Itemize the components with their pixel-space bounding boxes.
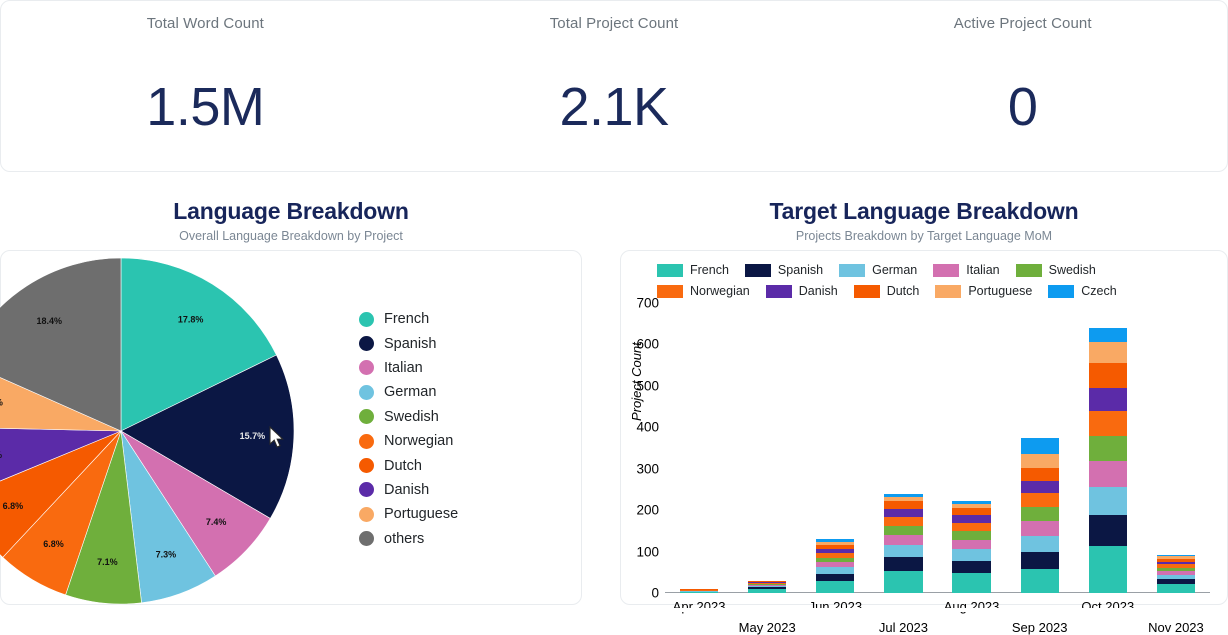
bar-segment[interactable] [884, 535, 922, 545]
bar-segment[interactable] [884, 517, 922, 526]
bar-segment[interactable] [884, 557, 922, 571]
x-axis-tick-label: Jul 2023 [879, 620, 928, 635]
bar-legend: FrenchSpanishGermanItalianSwedishNorwegi… [657, 263, 1202, 298]
legend-color-dot-icon [359, 312, 374, 327]
legend-color-dot-icon [359, 434, 374, 449]
legend-color-swatch-icon [745, 264, 771, 277]
bar-segment[interactable] [1021, 438, 1059, 454]
pie-legend-label: Norwegian [384, 433, 453, 449]
pie-legend-label: Portuguese [384, 506, 458, 522]
legend-color-swatch-icon [854, 285, 880, 298]
legend-color-swatch-icon [1048, 285, 1074, 298]
bar-segment[interactable] [1089, 436, 1127, 461]
bar-segment[interactable] [1089, 328, 1127, 342]
bar-legend-label: Spanish [778, 263, 823, 277]
legend-color-dot-icon [359, 458, 374, 473]
kpi-label: Active Project Count [954, 15, 1092, 32]
pie-slice-label: 6.8% [43, 539, 64, 549]
pie-legend-item[interactable]: Portuguese [359, 502, 458, 526]
y-axis-tick-label: 100 [636, 544, 659, 559]
bar-panel-subtitle: Projects Breakdown by Target Language Mo… [620, 229, 1228, 243]
bar-legend-label: German [872, 263, 917, 277]
legend-color-dot-icon [359, 360, 374, 375]
bar-segment[interactable] [1021, 569, 1059, 593]
legend-color-dot-icon [359, 409, 374, 424]
legend-color-swatch-icon [766, 285, 792, 298]
bar-plot-area[interactable]: Project Count 0100200300400500600700 Apr… [665, 303, 1210, 593]
kpi-label: Total Word Count [147, 15, 264, 32]
kpi-card: Total Word Count 1.5M Total Project Coun… [0, 0, 1228, 172]
bar-legend-item[interactable]: Norwegian [657, 284, 750, 298]
x-axis-tick-label: Sep 2023 [1012, 620, 1068, 635]
bar-segment[interactable] [952, 523, 990, 531]
bar-segment[interactable] [1157, 584, 1195, 593]
bar-stack[interactable] [748, 581, 786, 593]
pie-legend-label: Spanish [384, 336, 436, 352]
y-axis-tick-label: 400 [636, 420, 659, 435]
legend-color-dot-icon [359, 531, 374, 546]
pie-slice-label: 7.1% [97, 557, 118, 567]
bar-segment[interactable] [952, 549, 990, 561]
bar-segment[interactable] [748, 589, 786, 593]
y-axis-tick-label: 700 [636, 296, 659, 311]
bar-legend-item[interactable]: Portuguese [935, 284, 1032, 298]
bar-segment[interactable] [1021, 468, 1059, 480]
pie-legend-item[interactable]: others [359, 527, 458, 551]
pie-legend-label: Italian [384, 360, 423, 376]
pie-slice-label: 6.8% [3, 501, 24, 511]
pie-slice-label: 6.3% [0, 397, 3, 407]
bar-segment[interactable] [952, 561, 990, 573]
bar-legend-item[interactable]: Swedish [1016, 263, 1096, 277]
bar-segment[interactable] [816, 581, 854, 593]
kpi-label: Total Project Count [550, 15, 679, 32]
pie-legend-label: Danish [384, 482, 429, 498]
pie-chart-svg[interactable]: 17.8%15.7%7.4%7.3%7.1%6.8%6.8%6.6%6.3%18… [0, 256, 296, 606]
pie-slice-label: 7.4% [206, 517, 227, 527]
bar-legend-item[interactable]: Dutch [854, 284, 920, 298]
pie-legend-item[interactable]: French [359, 307, 458, 331]
pie-panel-title: Language Breakdown [0, 198, 582, 225]
bar-stack[interactable] [1157, 555, 1195, 593]
kpi-value: 2.1K [559, 80, 668, 134]
pie-legend-item[interactable]: German [359, 380, 458, 404]
bar-legend-item[interactable]: French [657, 263, 729, 277]
legend-color-dot-icon [359, 507, 374, 522]
x-axis-tick-label: Nov 2023 [1148, 620, 1204, 635]
bar-segment[interactable] [1021, 493, 1059, 507]
pie-chart[interactable]: 17.8%15.7%7.4%7.3%7.1%6.8%6.8%6.6%6.3%18… [0, 256, 296, 606]
bar-segment[interactable] [1089, 546, 1127, 593]
bar-stack[interactable] [884, 494, 922, 593]
pie-panel-subtitle: Overall Language Breakdown by Project [0, 229, 582, 243]
bar-segment[interactable] [1021, 552, 1059, 569]
pie-legend-label: German [384, 384, 436, 400]
legend-color-swatch-icon [935, 285, 961, 298]
bar-segment[interactable] [884, 526, 922, 535]
bar-legend-label: Swedish [1049, 263, 1096, 277]
pie-slice-label: 6.6% [0, 450, 2, 460]
pie-legend-label: Dutch [384, 458, 422, 474]
bar-segment[interactable] [1021, 507, 1059, 521]
pie-legend-item[interactable]: Norwegian [359, 429, 458, 453]
x-axis-tick-label: May 2023 [739, 620, 796, 635]
legend-color-swatch-icon [839, 264, 865, 277]
bar-stack[interactable] [816, 539, 854, 593]
bottom-strip [0, 608, 1228, 612]
bar-segment[interactable] [680, 592, 718, 593]
bar-legend-label: Danish [799, 284, 838, 298]
pie-legend-label: French [384, 311, 429, 327]
bar-segment[interactable] [1089, 461, 1127, 487]
bar-segment[interactable] [952, 531, 990, 540]
bar-segment[interactable] [1089, 487, 1127, 515]
bar-legend-label: Czech [1081, 284, 1116, 298]
legend-color-dot-icon [359, 336, 374, 351]
pie-slice-label: 17.8% [178, 314, 204, 324]
bar-legend-label: Norwegian [690, 284, 750, 298]
legend-color-swatch-icon [657, 285, 683, 298]
kpi-value: 0 [1008, 80, 1038, 134]
pie-legend-item[interactable]: Dutch [359, 453, 458, 477]
bar-segment[interactable] [952, 573, 990, 593]
bar-segment[interactable] [1089, 363, 1127, 388]
bar-segment[interactable] [1021, 454, 1059, 469]
bar-segment[interactable] [816, 574, 854, 581]
pie-legend-label: Swedish [384, 409, 439, 425]
legend-color-swatch-icon [1016, 264, 1042, 277]
bar-stack[interactable] [1089, 328, 1127, 593]
pie-legend-item[interactable]: Swedish [359, 405, 458, 429]
bar-segment[interactable] [952, 515, 990, 523]
pie-slice-label: 18.4% [37, 316, 63, 326]
bar-legend-item[interactable]: Danish [766, 284, 838, 298]
bar-segment[interactable] [1089, 388, 1127, 411]
pie-legend-item[interactable]: Danish [359, 478, 458, 502]
kpi-total-project-count: Total Project Count 2.1K [410, 1, 819, 171]
pie-legend: FrenchSpanishItalianGermanSwedishNorwegi… [359, 307, 458, 551]
bar-segment[interactable] [1089, 515, 1127, 546]
bar-segment[interactable] [884, 509, 922, 517]
bar-legend-item[interactable]: German [839, 263, 917, 277]
bar-legend-label: Dutch [887, 284, 920, 298]
y-axis-tick-label: 600 [636, 337, 659, 352]
y-axis-tick-label: 500 [636, 378, 659, 393]
legend-color-swatch-icon [933, 264, 959, 277]
bar-stack[interactable] [680, 589, 718, 593]
bar-legend-item[interactable]: Italian [933, 263, 999, 277]
bar-legend-label: French [690, 263, 729, 277]
bar-legend-label: Italian [966, 263, 999, 277]
kpi-total-word-count: Total Word Count 1.5M [1, 1, 410, 171]
bar-segment[interactable] [884, 501, 922, 509]
target-language-breakdown-card: FrenchSpanishGermanItalianSwedishNorwegi… [620, 250, 1228, 605]
bar-segment[interactable] [1021, 536, 1059, 552]
kpi-value: 1.5M [146, 80, 264, 134]
bar-stack[interactable] [1021, 438, 1059, 593]
bar-stacks [665, 303, 1210, 593]
y-axis-tick-label: 0 [651, 586, 659, 601]
legend-color-swatch-icon [657, 264, 683, 277]
bar-legend-label: Portuguese [968, 284, 1032, 298]
bar-legend-item[interactable]: Spanish [745, 263, 823, 277]
bar-segment[interactable] [884, 571, 922, 593]
bar-stack[interactable] [952, 501, 990, 593]
bar-legend-item[interactable]: Czech [1048, 284, 1116, 298]
bar-segment[interactable] [952, 540, 990, 549]
pie-slice-label: 15.7% [240, 431, 266, 441]
bar-segment[interactable] [1089, 342, 1127, 364]
y-axis-tick-label: 200 [636, 503, 659, 518]
bar-segment[interactable] [952, 508, 990, 515]
y-axis-tick-label: 300 [636, 461, 659, 476]
bar-panel-title: Target Language Breakdown [620, 198, 1228, 225]
bar-segment[interactable] [1089, 411, 1127, 437]
kpi-active-project-count: Active Project Count 0 [818, 1, 1227, 171]
bar-segment[interactable] [816, 567, 854, 574]
bar-segment[interactable] [884, 545, 922, 557]
language-breakdown-card: 17.8%15.7%7.4%7.3%7.1%6.8%6.8%6.6%6.3%18… [0, 250, 582, 605]
pie-slice-label: 7.3% [156, 550, 177, 560]
bar-segment[interactable] [1021, 481, 1059, 493]
pie-legend-item[interactable]: Italian [359, 356, 458, 380]
legend-color-dot-icon [359, 385, 374, 400]
bar-segment[interactable] [1021, 521, 1059, 536]
pie-legend-item[interactable]: Spanish [359, 331, 458, 355]
legend-color-dot-icon [359, 482, 374, 497]
pie-legend-label: others [384, 531, 424, 547]
